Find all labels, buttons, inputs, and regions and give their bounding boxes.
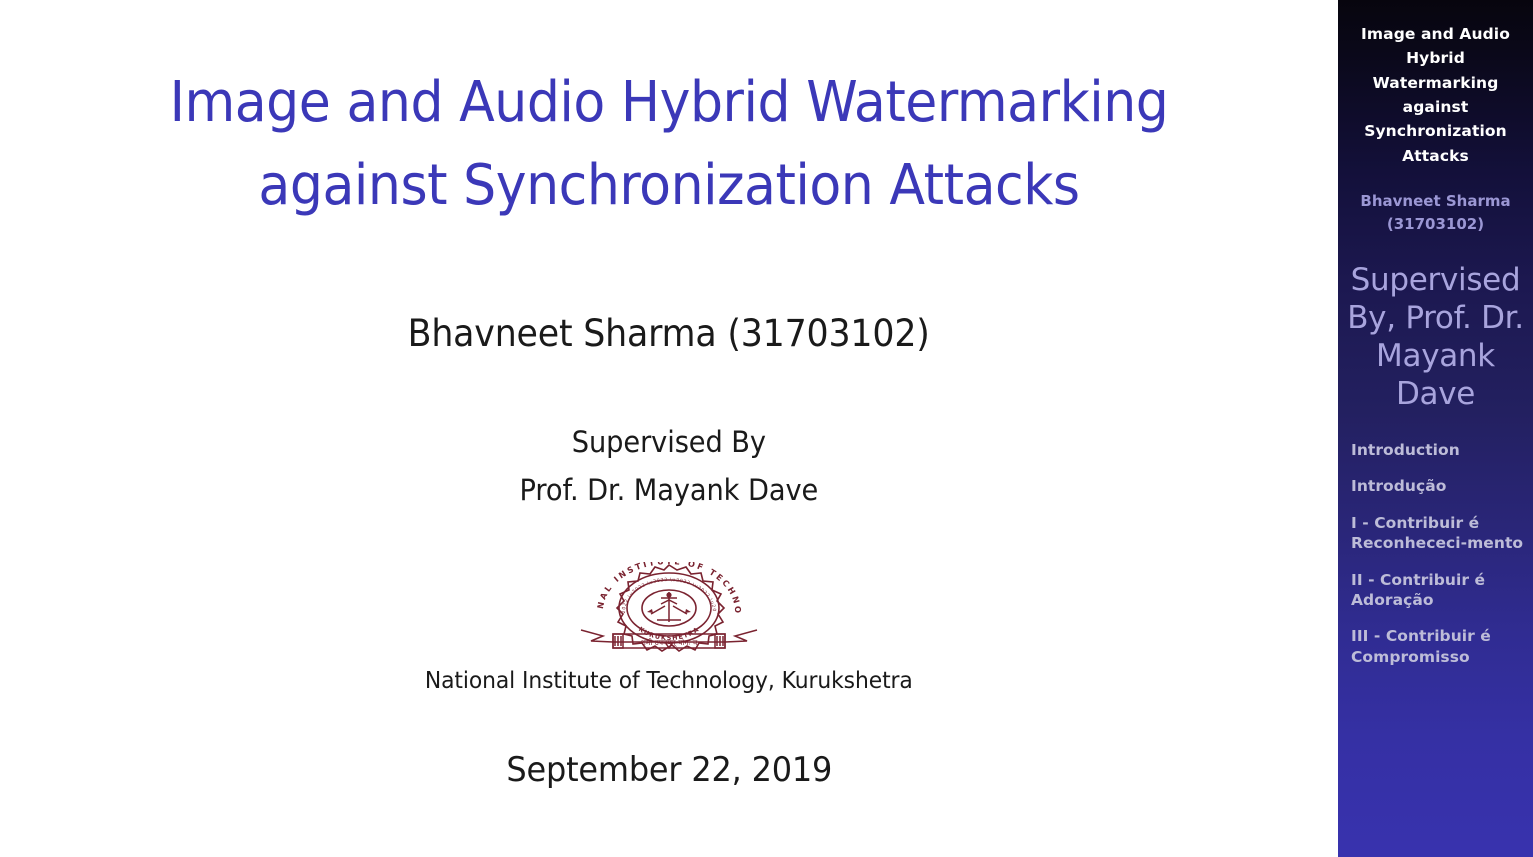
sidebar-item-contribuir-reconhececimento[interactable]: I - Contribuir é Reconhececi-mento: [1338, 513, 1533, 554]
sidebar-item-introduction[interactable]: Introduction: [1338, 440, 1533, 460]
institute-name: National Institute of Technology, Kuruks…: [425, 668, 913, 694]
sidebar-navigation: Introduction Introdução I - Contribuir é…: [1338, 414, 1533, 668]
sidebar-item-introducao[interactable]: Introdução: [1338, 476, 1533, 496]
author-name: Bhavneet Sharma (31703102): [408, 312, 930, 355]
sidebar-section-header: Supervised By, Prof. Dr. Mayank Dave: [1338, 236, 1533, 413]
beamer-sidebar: Image and Audio Hybrid Watermarking agai…: [1338, 0, 1533, 857]
nit-kurukshetra-logo-icon: NATIONAL INSTITUTE OF TECHNOLOGY \u2022 …: [573, 562, 765, 654]
supervisor-block: Supervised By Prof. Dr. Mayank Dave: [520, 419, 819, 515]
supervisor-name: Prof. Dr. Mayank Dave: [520, 467, 819, 515]
sidebar-item-contribuir-adoracao[interactable]: II - Contribuir é Adoração: [1338, 570, 1533, 611]
supervised-by-label: Supervised By: [520, 419, 819, 467]
sidebar-item-contribuir-compromisso[interactable]: III - Contribuir é Compromisso: [1338, 626, 1533, 667]
institute-logo: NATIONAL INSTITUTE OF TECHNOLOGY \u2022 …: [569, 562, 769, 654]
presentation-slide: Image and Audio Hybrid Watermarking agai…: [0, 0, 1533, 857]
sidebar-title: Image and Audio Hybrid Watermarking agai…: [1338, 0, 1533, 168]
page-title: Image and Audio Hybrid Watermarking agai…: [148, 62, 1190, 228]
logo-banner-text: शमी उपनयन् योगः च: [641, 638, 698, 647]
logo-emblem: [647, 592, 691, 622]
logo-outer-text: NATIONAL INSTITUTE OF TECHNOLOGY: [573, 562, 743, 616]
slide-main-content: Image and Audio Hybrid Watermarking agai…: [0, 0, 1338, 857]
sidebar-author: Bhavneet Sharma (31703102): [1338, 168, 1533, 237]
presentation-date: September 22, 2019: [506, 750, 832, 790]
